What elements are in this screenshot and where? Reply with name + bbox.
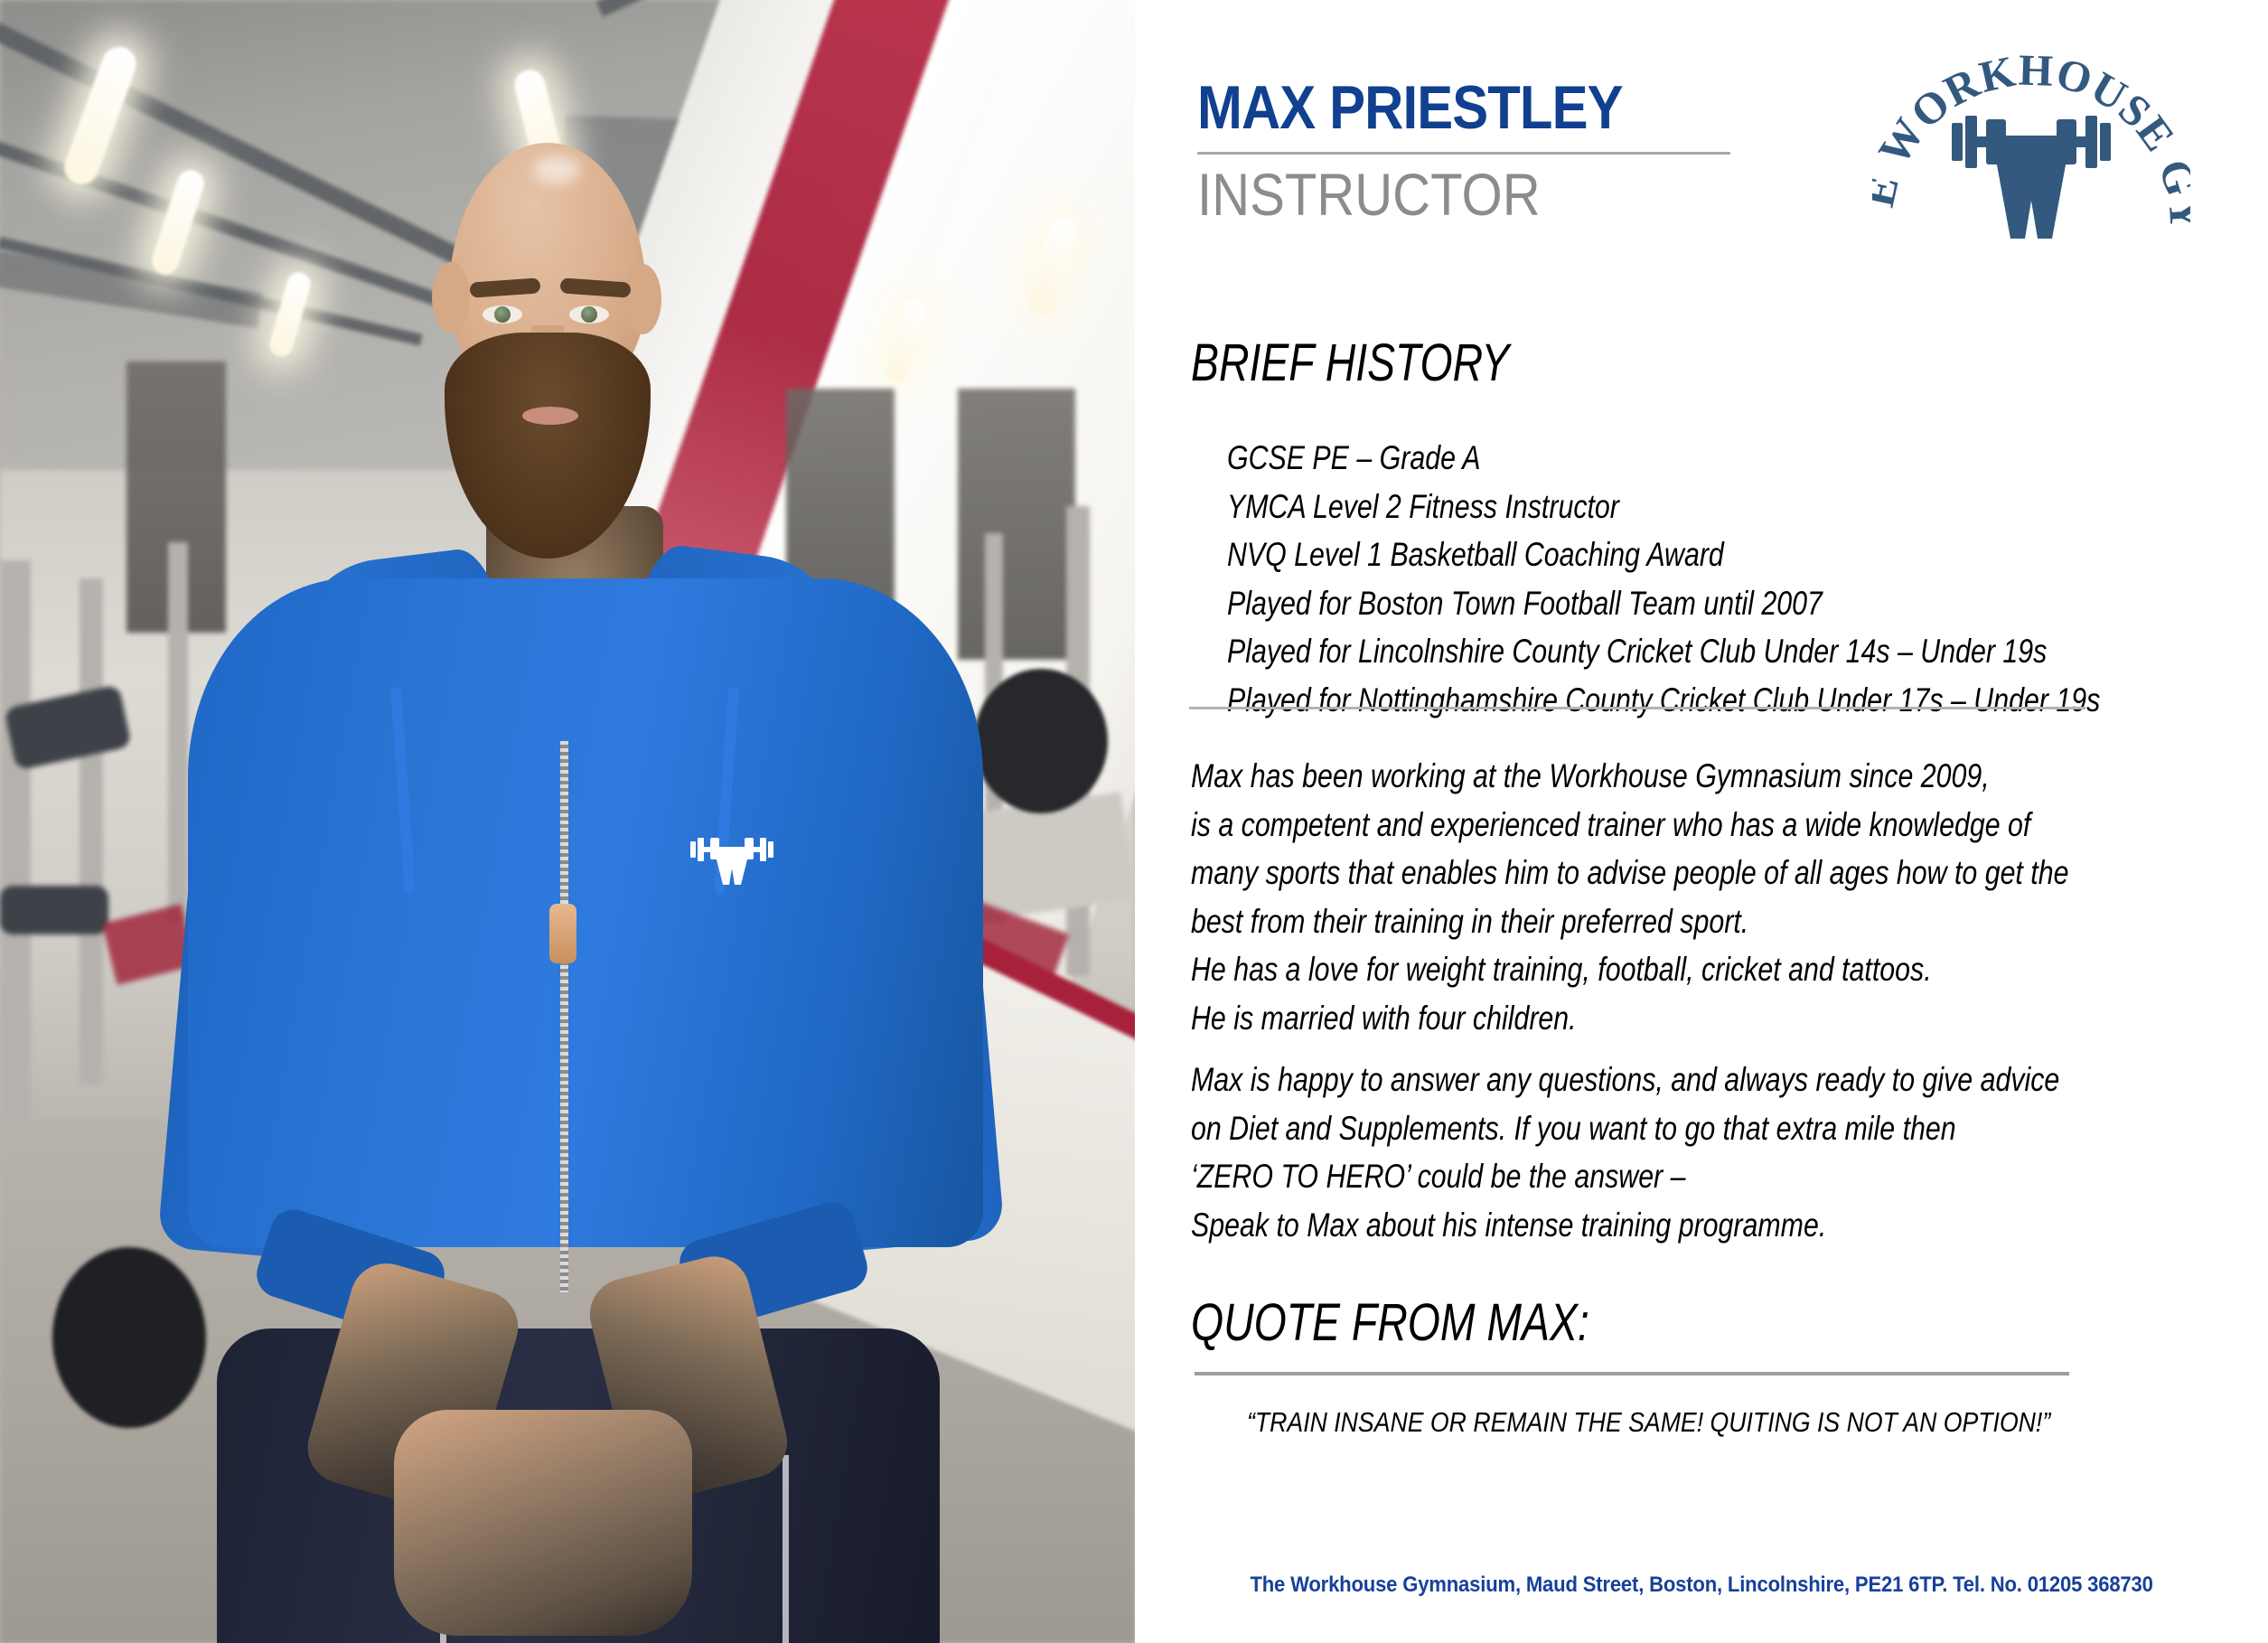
bio-paragraph-2: Max is happy to answer any questions, an…: [1191, 1063, 2257, 1256]
ear: [432, 262, 470, 333]
iris: [494, 306, 511, 323]
bio-paragraph-1: Max has been working at the Workhouse Gy…: [1191, 759, 2257, 1049]
bio-line: Max is happy to answer any questions, an…: [1191, 1063, 2066, 1096]
list-item: Played for Boston Town Football Team unt…: [1227, 587, 2086, 620]
footer-text: The Workhouse Gymnasium, Maud Street, Bo…: [1250, 1573, 2152, 1598]
list-item: YMCA Level 2 Fitness Instructor: [1227, 490, 2086, 523]
list-item: Played for Nottinghamshire County Cricke…: [1227, 683, 2086, 717]
quote-heading: QUOTE FROM MAX:: [1191, 1292, 1589, 1353]
trouser-stripe: [783, 1455, 789, 1643]
info-panel: MAX PRIESTLEY INSTRUCTOR THE WORKHOUSE G…: [1135, 0, 2268, 1643]
head-highlight: [533, 155, 580, 184]
bio-line: Max has been working at the Workhouse Gy…: [1191, 759, 2066, 793]
clasped-tattooed-hands: [394, 1410, 692, 1636]
hoodie-zip: [560, 741, 568, 1292]
quote-divider: [1195, 1372, 2069, 1375]
bio-line: He is married with four children.: [1191, 1001, 2066, 1035]
iris: [581, 306, 597, 323]
weightlifter-icon: [1952, 116, 2111, 239]
list-item: NVQ Level 1 Basketball Coaching Award: [1227, 538, 2086, 571]
bio-line: is a competent and experienced trainer w…: [1191, 808, 2066, 841]
blue-hoodie: [188, 578, 983, 1247]
bio-line: many sports that enables him to advise p…: [1191, 856, 2066, 889]
title-divider: [1197, 152, 1730, 155]
lips: [522, 407, 578, 425]
bio-line: Speak to Max about his intense training …: [1191, 1208, 2066, 1242]
page-title: MAX PRIESTLEY: [1197, 77, 1623, 138]
hoodie-zip-pull: [549, 904, 576, 963]
profile-card: MAX PRIESTLEY INSTRUCTOR THE WORKHOUSE G…: [0, 0, 2268, 1643]
footer-contact: The Workhouse Gymnasium, Maud Street, Bo…: [1135, 1573, 2268, 1598]
hoodie-chest-logo-icon: [687, 827, 777, 887]
bio-line: on Diet and Supplements. If you want to …: [1191, 1112, 2066, 1145]
gym-logo: THE WORKHOUSE GYM: [1872, 29, 2190, 246]
quote-text: “TRAIN INSANE OR REMAIN THE SAME! QUITIN…: [1247, 1408, 2050, 1436]
bio-line: He has a love for weight training, footb…: [1191, 953, 2066, 986]
history-divider: [1189, 707, 2085, 709]
bio-line: best from their training in their prefer…: [1191, 905, 2066, 938]
eye: [483, 305, 522, 324]
ear: [623, 264, 661, 334]
list-item: Played for Lincolnshire County Cricket C…: [1227, 634, 2086, 668]
brief-history-heading: BRIEF HISTORY: [1191, 333, 1509, 393]
list-item: GCSE PE – Grade A: [1227, 441, 2086, 474]
brief-history-list: GCSE PE – Grade A YMCA Level 2 Fitness I…: [1191, 441, 2268, 731]
bio-line: ‘ZERO TO HERO’ could be the answer –: [1191, 1159, 2066, 1193]
logo-arc-text: THE WORKHOUSE GYM: [1872, 29, 2190, 233]
person-figure: [0, 0, 1135, 1643]
instructor-photo: [0, 0, 1135, 1643]
eye: [569, 305, 609, 324]
svg-text:THE WORKHOUSE GYM: THE WORKHOUSE GYM: [1872, 29, 2190, 233]
job-role: INSTRUCTOR: [1197, 164, 1541, 224]
